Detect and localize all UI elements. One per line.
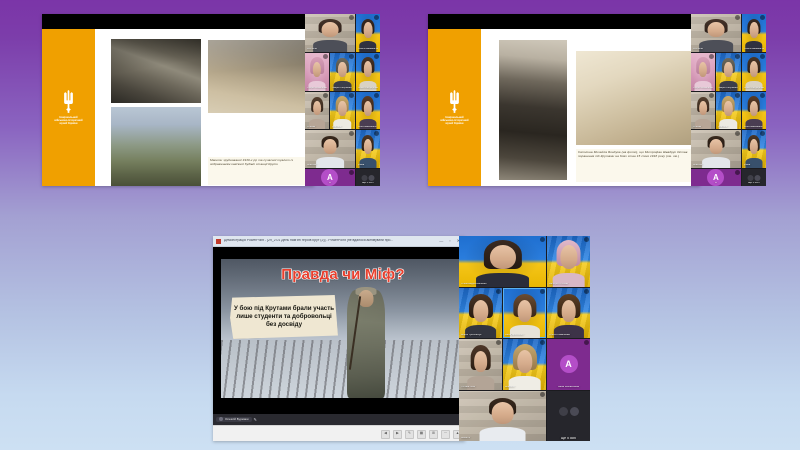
mic-icon xyxy=(540,392,545,397)
handwritten-documents xyxy=(576,51,691,145)
mic-icon xyxy=(323,93,328,98)
participant-name: Олена xyxy=(307,126,327,129)
slide-2-content: Національний військово-історичний музей … xyxy=(428,29,700,186)
video-tile[interactable]: Анна Бондаренко xyxy=(742,53,766,91)
participant-name: Дарина xyxy=(332,126,352,129)
participant-name: Софія Коваленко xyxy=(693,87,713,90)
video-tile[interactable]: Анна Бондаренко xyxy=(356,53,380,91)
video-tile[interactable]: Юлія Шевченко xyxy=(742,92,766,130)
slide-title: Правда чи Міф? xyxy=(221,266,465,283)
mic-icon xyxy=(540,237,545,242)
participant-name: Микита xyxy=(461,437,544,440)
people-icon xyxy=(747,175,760,181)
video-tile-avatar[interactable]: A Анна Михайлівна xyxy=(547,339,590,390)
participant-name: Ольга Іванівна Михайленко xyxy=(358,48,378,51)
video-tile-overflow[interactable]: Ще 5 осіб xyxy=(547,391,590,442)
powerpoint-icon xyxy=(216,239,221,244)
mic-icon xyxy=(735,131,740,136)
maximize-button[interactable]: ▫ xyxy=(449,239,450,243)
slide-statusbar[interactable]: ◀ ▶ ✎ ▦ ⊞ ⋯ ▲ xyxy=(213,425,465,441)
mic-icon xyxy=(584,340,589,345)
slide-2-body: Світлина Михайла Бондука (на фото), що М… xyxy=(481,29,700,186)
presenter-chip[interactable]: Олексій Бурмаки xyxy=(216,417,252,422)
cossack-portrait-photo xyxy=(499,40,567,180)
video-tile[interactable]: Олександра Бабенко xyxy=(459,236,546,287)
video-tile[interactable]: Дарина xyxy=(716,92,740,130)
video-tile-avatar[interactable]: A А xyxy=(305,169,355,186)
participant-name: Максим xyxy=(693,164,739,167)
museum-name: Національний військово-історичний музей … xyxy=(440,117,468,126)
overflow-label: Ще 5 осіб xyxy=(358,182,378,185)
myth-slide-background: Правда чи Міф? У бою під Крутами брали у… xyxy=(221,259,465,398)
avatar: A xyxy=(560,355,578,373)
mic-icon xyxy=(374,93,379,98)
participant-name: Дарина xyxy=(718,126,738,129)
mic-icon xyxy=(496,340,501,345)
video-grid-panel-3[interactable]: Олександра Бабенко Вікторія Степан Марія… xyxy=(459,236,590,441)
mic-icon xyxy=(735,15,740,20)
participant-name: Юлія Шевченко xyxy=(358,126,378,129)
participant-name: Марія Петренко xyxy=(718,87,738,90)
window-titlebar[interactable]: Демонстрація PowerPoint - [29_2.01 День … xyxy=(213,236,465,247)
mic-icon xyxy=(709,54,714,59)
video-tile[interactable]: Софія Коваленко xyxy=(691,53,715,91)
video-tile[interactable]: Олена xyxy=(305,92,329,130)
video-tile[interactable]: Ольга Іванівна Михайленко xyxy=(356,14,380,52)
museum-sidebar: Національний військово-історичний музей … xyxy=(42,29,95,186)
rail-station-destroyed-photo xyxy=(111,39,201,103)
pen-icon[interactable]: ✎ xyxy=(254,417,257,422)
status-button-prev[interactable]: ◀ xyxy=(381,430,390,439)
slide-3-stage[interactable]: Правда чи Міф? У бою під Крутами брали у… xyxy=(213,247,465,414)
presenter-toolbar[interactable]: Олексій Бурмаки ✎ xyxy=(213,414,465,425)
video-tile-avatar[interactable]: A А xyxy=(691,169,741,186)
video-tile[interactable]: Олеся Коваленко xyxy=(547,288,590,339)
video-tile[interactable]: Марія Петренко xyxy=(330,53,354,91)
participant-name: Марина xyxy=(505,386,544,389)
video-tile[interactable]: Ірина xyxy=(356,130,380,168)
rifle-icon xyxy=(349,296,361,370)
mic-icon xyxy=(735,54,740,59)
participant-name: А xyxy=(693,182,739,185)
participant-name: Вчитель xyxy=(693,48,739,51)
video-grid-panel-2[interactable]: Вчитель Ольга Іванівна Михайленко Софія … xyxy=(691,14,766,186)
video-tile[interactable]: Вчитель xyxy=(305,14,355,52)
mic-icon xyxy=(323,54,328,59)
participant-name: Тетяна Хом xyxy=(461,386,500,389)
slide-1-caption: Макети зруйнованої 1930-х рр та сучасної… xyxy=(208,157,312,185)
panel-slide-2[interactable]: Національний військово-історичний музей … xyxy=(428,14,700,186)
mic-icon xyxy=(349,93,354,98)
museum-name-line-3: музей України xyxy=(440,123,468,126)
battle-painting xyxy=(208,40,308,113)
window-controls[interactable]: — ▫ ✕ xyxy=(439,239,460,243)
slide-1-content: Національний військово-історичний музей … xyxy=(42,29,314,186)
video-tile-speaking[interactable]: Анна Демченко xyxy=(503,288,546,339)
status-button-next[interactable]: ▶ xyxy=(393,430,402,439)
kruty-monument-photo xyxy=(111,107,201,186)
participant-name: А xyxy=(307,182,353,185)
participant-name: Анна Бондаренко xyxy=(744,87,764,90)
video-tile[interactable]: Вчитель xyxy=(691,14,741,52)
participant-name: Анна Михайлівна xyxy=(549,386,588,389)
panel-slide-1[interactable]: Національний військово-історичний музей … xyxy=(42,14,314,186)
mic-icon xyxy=(760,54,765,59)
participant-name: Анна Бондаренко xyxy=(358,87,378,90)
participant-name: Ірина xyxy=(358,164,378,167)
mic-icon xyxy=(584,289,589,294)
video-tile[interactable]: Микита xyxy=(459,391,546,442)
mic-icon xyxy=(735,93,740,98)
mic-icon xyxy=(760,93,765,98)
video-tile[interactable]: Марія Петренко xyxy=(716,53,740,91)
participant-name: Максим xyxy=(307,164,353,167)
participant-name: Вчитель xyxy=(307,48,353,51)
minimize-button[interactable]: — xyxy=(439,239,443,243)
video-tile-overflow[interactable]: Ще 5 осіб xyxy=(742,169,766,186)
museum-name-line-3: музей України xyxy=(54,123,82,126)
video-tile[interactable]: Дарина xyxy=(330,92,354,130)
mic-icon xyxy=(584,237,589,242)
video-tile[interactable]: Олена xyxy=(691,92,715,130)
presenter-name: Олексій Бурмаки xyxy=(225,417,249,422)
participant-name: Вікторія Степан xyxy=(549,283,588,286)
slide-1-body: Макети зруйнованої 1930-х рр та сучасної… xyxy=(95,29,314,186)
video-tile[interactable]: Максим xyxy=(305,130,355,168)
trident-icon xyxy=(59,89,78,114)
video-tile[interactable]: Софія Коваленко xyxy=(305,53,329,91)
participant-name: Софія Коваленко xyxy=(307,87,327,90)
participant-name: Анна Демченко xyxy=(505,334,544,337)
participant-name: Марія Трохимчук xyxy=(461,334,500,337)
letterbox-top xyxy=(42,14,314,29)
video-tile[interactable]: Юлія Шевченко xyxy=(356,92,380,130)
overflow-label: Ще 5 осіб xyxy=(744,182,764,185)
mic-icon xyxy=(709,93,714,98)
trident-icon xyxy=(445,89,464,114)
mic-icon xyxy=(760,15,765,20)
mic-icon xyxy=(349,54,354,59)
overflow-label: Ще 5 осіб xyxy=(549,437,588,440)
statement-scroll: У бою під Крутами брали участь лише студ… xyxy=(230,295,338,339)
mic-icon xyxy=(349,131,354,136)
people-icon xyxy=(559,407,579,416)
railway-tracks xyxy=(221,340,465,398)
participant-name: Ірина xyxy=(744,164,764,167)
status-button-grid[interactable]: ▦ xyxy=(417,430,426,439)
participant-name: Олександра Бабенко xyxy=(461,283,544,286)
participant-name: Ольга Іванівна Михайленко xyxy=(744,48,764,51)
panel-slide-3[interactable]: Демонстрація PowerPoint - [29_2.01 День … xyxy=(213,236,465,441)
participant-name: Олена xyxy=(693,126,713,129)
presenter-avatar xyxy=(219,417,223,421)
participant-name: Юлія Шевченко xyxy=(744,126,764,129)
status-button-more[interactable]: ⋯ xyxy=(441,430,450,439)
video-tile[interactable]: Марина xyxy=(503,339,546,390)
video-grid-panel-1[interactable]: Вчитель Ольга Іванівна Михайленко Софія … xyxy=(305,14,380,186)
video-tile[interactable]: Вікторія Степан xyxy=(547,236,590,287)
mic-icon xyxy=(374,54,379,59)
participant-name: Олеся Коваленко xyxy=(549,334,588,337)
letterbox-top xyxy=(428,14,700,29)
people-icon xyxy=(361,175,374,181)
window-title: Демонстрація PowerPoint - [29_2.01 День … xyxy=(224,239,439,242)
participant-name: Марія Петренко xyxy=(332,87,352,90)
soldier-illustration xyxy=(347,290,385,398)
mic-icon xyxy=(374,131,379,136)
museum-sidebar: Національний військово-історичний музей … xyxy=(428,29,481,186)
mic-icon xyxy=(374,15,379,20)
video-tile[interactable]: Марія Трохимчук xyxy=(459,288,502,339)
video-tile[interactable]: Ольга Іванівна Михайленко xyxy=(742,14,766,52)
slide-2-caption: Світлина Михайла Бондука (на фото), що М… xyxy=(576,149,694,182)
mic-icon xyxy=(760,131,765,136)
status-button-pen[interactable]: ✎ xyxy=(405,430,414,439)
status-button-zoom[interactable]: ⊞ xyxy=(429,430,438,439)
mic-icon xyxy=(496,289,501,294)
video-tile[interactable]: Тетяна Хом xyxy=(459,339,502,390)
mic-icon xyxy=(540,340,545,345)
museum-name: Національний військово-історичний музей … xyxy=(54,117,82,126)
video-tile-overflow[interactable]: Ще 5 осіб xyxy=(356,169,380,186)
video-tile[interactable]: Ірина xyxy=(742,130,766,168)
video-tile[interactable]: Максим xyxy=(691,130,741,168)
mic-icon xyxy=(349,170,354,175)
mic-icon xyxy=(735,170,740,175)
mic-icon xyxy=(349,15,354,20)
mic-icon xyxy=(540,289,545,294)
